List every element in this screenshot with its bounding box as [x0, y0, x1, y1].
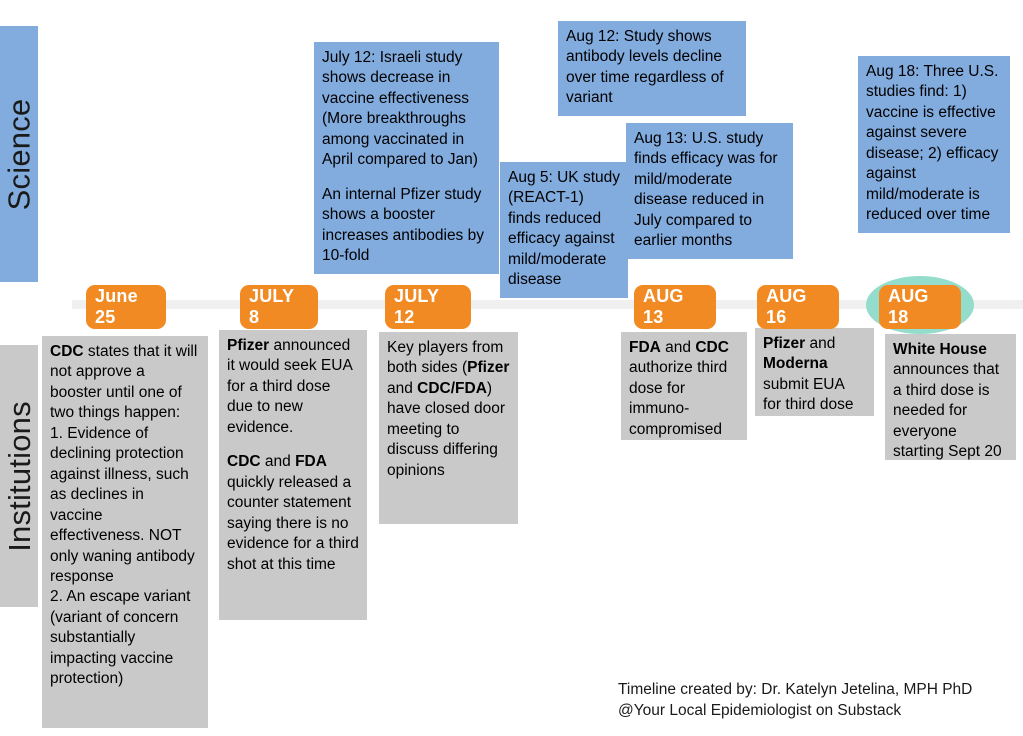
timeline-pill-june-25-label: June 25 — [95, 286, 157, 328]
timeline-pill-aug-18-label: AUG 18 — [888, 286, 952, 328]
science-note-july-12: July 12: Israeli study shows decrease in… — [314, 42, 499, 274]
science-note-aug-18: Aug 18: Three U.S. studies find: 1) vacc… — [858, 56, 1010, 233]
science-note-july-12-p1: July 12: Israeli study shows decrease in… — [322, 49, 478, 168]
institution-note-aug-16: Pfizer and Moderna submit EUA for third … — [755, 328, 874, 416]
science-note-aug-13-p1: Aug 13: U.S. study finds efficacy was fo… — [634, 130, 778, 249]
section-label-institutions-text: Institutions — [4, 401, 35, 552]
section-label-science: Science — [0, 26, 38, 282]
institution-note-july-12: Key players from both sides (Pfizer and … — [379, 332, 518, 524]
timeline-pill-aug-18[interactable]: AUG 18 — [879, 285, 961, 329]
timeline-pill-july-12[interactable]: JULY 12 — [385, 285, 471, 329]
timeline-pill-aug-16[interactable]: AUG 16 — [757, 285, 839, 329]
science-note-aug-5-p1: Aug 5: UK study (REACT-1) finds reduced … — [508, 169, 620, 288]
timeline-pill-july-8[interactable]: JULY 8 — [240, 285, 318, 329]
timeline-pill-aug-16-label: AUG 16 — [766, 286, 830, 328]
section-label-institutions: Institutions — [0, 345, 38, 607]
timeline-pill-july-8-label: JULY 8 — [249, 286, 309, 328]
paragraph-gap — [322, 171, 491, 185]
science-note-aug-5: Aug 5: UK study (REACT-1) finds reduced … — [500, 162, 628, 298]
timeline-pill-aug-13[interactable]: AUG 13 — [634, 285, 716, 329]
institution-note-july-8: Pfizer announced it would seek EUA for a… — [219, 330, 367, 620]
institution-note-june-25: CDC states that it will not approve a bo… — [42, 336, 208, 728]
credit-attribution: Timeline created by: Dr. Katelyn Jetelin… — [618, 679, 972, 722]
institution-note-aug-13: FDA and CDC authorize third dose for imm… — [621, 332, 747, 440]
timeline-pill-june-25[interactable]: June 25 — [86, 285, 166, 329]
science-note-aug-12: Aug 12: Study shows antibody levels decl… — [558, 21, 746, 116]
timeline-pill-july-12-label: JULY 12 — [394, 286, 462, 328]
science-note-aug-18-p1: Aug 18: Three U.S. studies find: 1) vacc… — [866, 63, 998, 223]
section-label-science-text: Science — [4, 98, 35, 210]
science-note-aug-12-p1: Aug 12: Study shows antibody levels decl… — [566, 28, 724, 106]
institution-note-aug-18: White House announces that a third dose … — [885, 334, 1016, 460]
science-note-july-12-p2: An internal Pfizer study shows a booster… — [322, 186, 484, 264]
timeline-pill-aug-13-label: AUG 13 — [643, 286, 707, 328]
science-note-aug-13: Aug 13: U.S. study finds efficacy was fo… — [626, 123, 793, 259]
timeline-infographic: Science Institutions July 12: Israeli st… — [0, 0, 1023, 736]
